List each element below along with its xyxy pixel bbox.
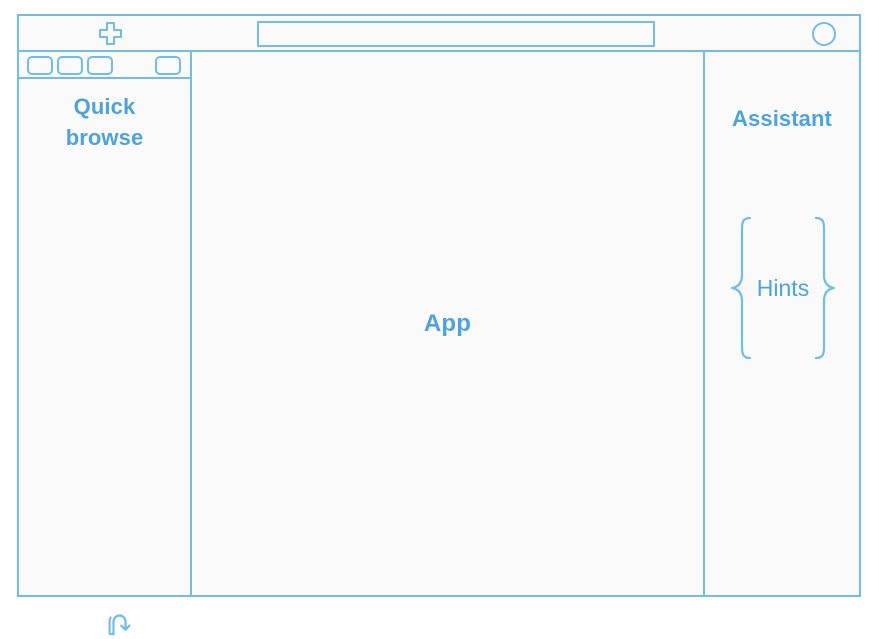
sidebar-tab-chip-2[interactable] — [57, 56, 83, 75]
sidebar-tab-chip-4[interactable] — [155, 56, 181, 75]
right-curly-brace-icon — [811, 215, 837, 361]
sidebar-title-line-1: Quick — [19, 91, 190, 122]
assistant-title: Assistant — [705, 106, 859, 132]
sidebar-tab-strip — [19, 52, 190, 79]
wireframe-root: Quick browse App Assistant — [0, 0, 879, 616]
hints-label: Hints — [755, 275, 811, 302]
window-frame: Quick browse App Assistant — [17, 14, 861, 597]
top-bar — [19, 16, 859, 52]
search-input[interactable] — [257, 21, 655, 47]
circle-avatar-icon[interactable] — [811, 21, 837, 47]
body-area: Quick browse App Assistant — [19, 52, 859, 595]
left-curly-brace-icon — [729, 215, 755, 361]
sidebar-title-line-2: browse — [19, 122, 190, 153]
assistant-panel: Assistant Hints — [705, 52, 859, 595]
sidebar-tab-chip-3[interactable] — [87, 56, 113, 75]
u-turn-arrow-icon[interactable] — [105, 609, 135, 639]
sidebar-title: Quick browse — [19, 91, 190, 153]
sidebar-tab-chip-1[interactable] — [27, 56, 53, 75]
plus-icon[interactable] — [97, 21, 124, 47]
app-label: App — [192, 52, 703, 595]
hints-block: Hints — [719, 212, 847, 364]
sidebar-quick-browse: Quick browse — [19, 52, 192, 595]
app-canvas[interactable]: App — [192, 52, 705, 595]
